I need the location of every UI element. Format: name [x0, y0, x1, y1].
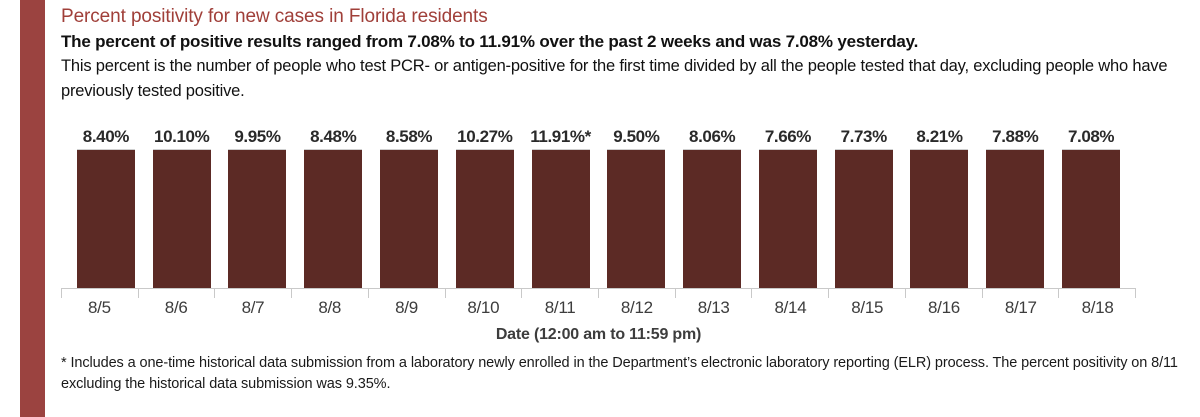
bar-rect[interactable] — [910, 149, 968, 288]
bar-item[interactable]: 8.58% — [371, 128, 447, 288]
bar-rect[interactable] — [153, 149, 211, 288]
x-axis-tick — [598, 289, 675, 298]
bar-rect[interactable] — [759, 149, 817, 288]
x-axis-tick — [521, 289, 598, 298]
x-axis-tick — [675, 289, 752, 298]
x-axis-tick — [982, 289, 1059, 298]
bar-chart-plot: 8.40%10.10%9.95%8.48%8.58%10.27%11.91%*9… — [61, 128, 1136, 288]
bar-rect[interactable] — [304, 149, 362, 288]
bar-item[interactable]: 8.06% — [674, 128, 750, 288]
plot-inner: 8.40%10.10%9.95%8.48%8.58%10.27%11.91%*9… — [61, 128, 1136, 288]
chart-content: Percent positivity for new cases in Flor… — [61, 0, 1200, 417]
bar-value-label: 8.21% — [916, 128, 962, 146]
bar-value-label: 10.27% — [457, 128, 512, 146]
bar-item[interactable]: 7.88% — [977, 128, 1053, 288]
x-axis-tick-label: 8/6 — [138, 298, 215, 318]
x-axis-tick — [291, 289, 368, 298]
bar-value-label: 10.10% — [154, 128, 209, 146]
bar-value-label: 8.48% — [310, 128, 356, 146]
bar-value-label: 9.95% — [234, 128, 280, 146]
x-axis-tick — [905, 289, 982, 298]
bar-value-label: 8.06% — [689, 128, 735, 146]
bar-series: 8.40%10.10%9.95%8.48%8.58%10.27%11.91%*9… — [68, 128, 1129, 288]
bar-item[interactable]: 10.27% — [447, 128, 523, 288]
bar-item[interactable]: 7.08% — [1053, 128, 1129, 288]
x-axis-tick-label: 8/15 — [829, 298, 906, 318]
x-axis-tick — [751, 289, 828, 298]
bar-rect[interactable] — [986, 149, 1044, 288]
x-axis-tick — [445, 289, 522, 298]
x-axis-tick-label: 8/10 — [445, 298, 522, 318]
bar-item[interactable]: 8.40% — [68, 128, 144, 288]
bar-value-label: 7.66% — [765, 128, 811, 146]
bar-rect[interactable] — [456, 149, 514, 288]
bar-rect[interactable] — [380, 149, 438, 288]
x-axis-tick-label: 8/14 — [752, 298, 829, 318]
bar-value-label: 8.40% — [83, 128, 129, 146]
bar-value-label: 7.73% — [841, 128, 887, 146]
bar-item[interactable]: 8.21% — [902, 128, 978, 288]
bar-rect[interactable] — [835, 149, 893, 288]
chart-description: This percent is the number of people who… — [61, 54, 1171, 104]
x-axis-tick — [214, 289, 291, 298]
bar-item[interactable]: 10.10% — [144, 128, 220, 288]
bar-rect[interactable] — [532, 149, 590, 288]
bar-value-label: 9.50% — [613, 128, 659, 146]
bar-value-label: 7.08% — [1068, 128, 1114, 146]
bar-rect[interactable] — [77, 149, 135, 288]
x-axis-title: Date (12:00 am to 11:59 pm) — [61, 326, 1136, 344]
chart-footnote: * Includes a one-time historical data su… — [61, 353, 1194, 395]
bar-rect[interactable] — [228, 149, 286, 288]
bar-item[interactable]: 7.73% — [826, 128, 902, 288]
chart-title: Percent positivity for new cases in Flor… — [61, 5, 1161, 29]
bar-item[interactable]: 9.50% — [598, 128, 674, 288]
x-axis-tick-label: 8/18 — [1059, 298, 1136, 318]
x-axis-tick-label: 8/12 — [598, 298, 675, 318]
bar-value-label: 8.58% — [386, 128, 432, 146]
bar-value-label: 7.88% — [992, 128, 1038, 146]
bar-item[interactable]: 7.66% — [750, 128, 826, 288]
x-axis-tick-label: 8/7 — [215, 298, 292, 318]
x-axis-tick-label: 8/8 — [291, 298, 368, 318]
bar-item[interactable]: 9.95% — [220, 128, 296, 288]
left-accent-stripe — [20, 0, 45, 417]
bar-rect[interactable] — [607, 149, 665, 288]
x-axis-tick — [61, 289, 138, 298]
bar-value-label: 11.91%* — [530, 128, 591, 146]
bar-item[interactable]: 11.91%* — [523, 128, 599, 288]
bar-item[interactable]: 8.48% — [295, 128, 371, 288]
x-axis-tick — [138, 289, 215, 298]
chart-header: Percent positivity for new cases in Flor… — [61, 5, 1161, 104]
x-axis-tick-label: 8/9 — [368, 298, 445, 318]
x-axis-tick — [368, 289, 445, 298]
chart-page: Percent positivity for new cases in Flor… — [0, 0, 1200, 417]
x-axis-labels: 8/58/68/78/88/98/108/118/128/138/148/158… — [61, 298, 1136, 318]
x-axis-line — [61, 288, 1136, 297]
chart-subtitle: The percent of positive results ranged f… — [61, 29, 1161, 54]
x-axis-tick-label: 8/17 — [982, 298, 1059, 318]
x-axis-tick — [828, 289, 905, 298]
x-axis-ticks — [61, 289, 1136, 298]
bar-rect[interactable] — [1062, 149, 1120, 288]
x-axis-tick — [1058, 289, 1136, 298]
bar-rect[interactable] — [683, 149, 741, 288]
x-axis-tick-label: 8/13 — [675, 298, 752, 318]
x-axis-tick-label: 8/11 — [522, 298, 599, 318]
x-axis-tick-label: 8/5 — [61, 298, 138, 318]
x-axis-tick-label: 8/16 — [906, 298, 983, 318]
